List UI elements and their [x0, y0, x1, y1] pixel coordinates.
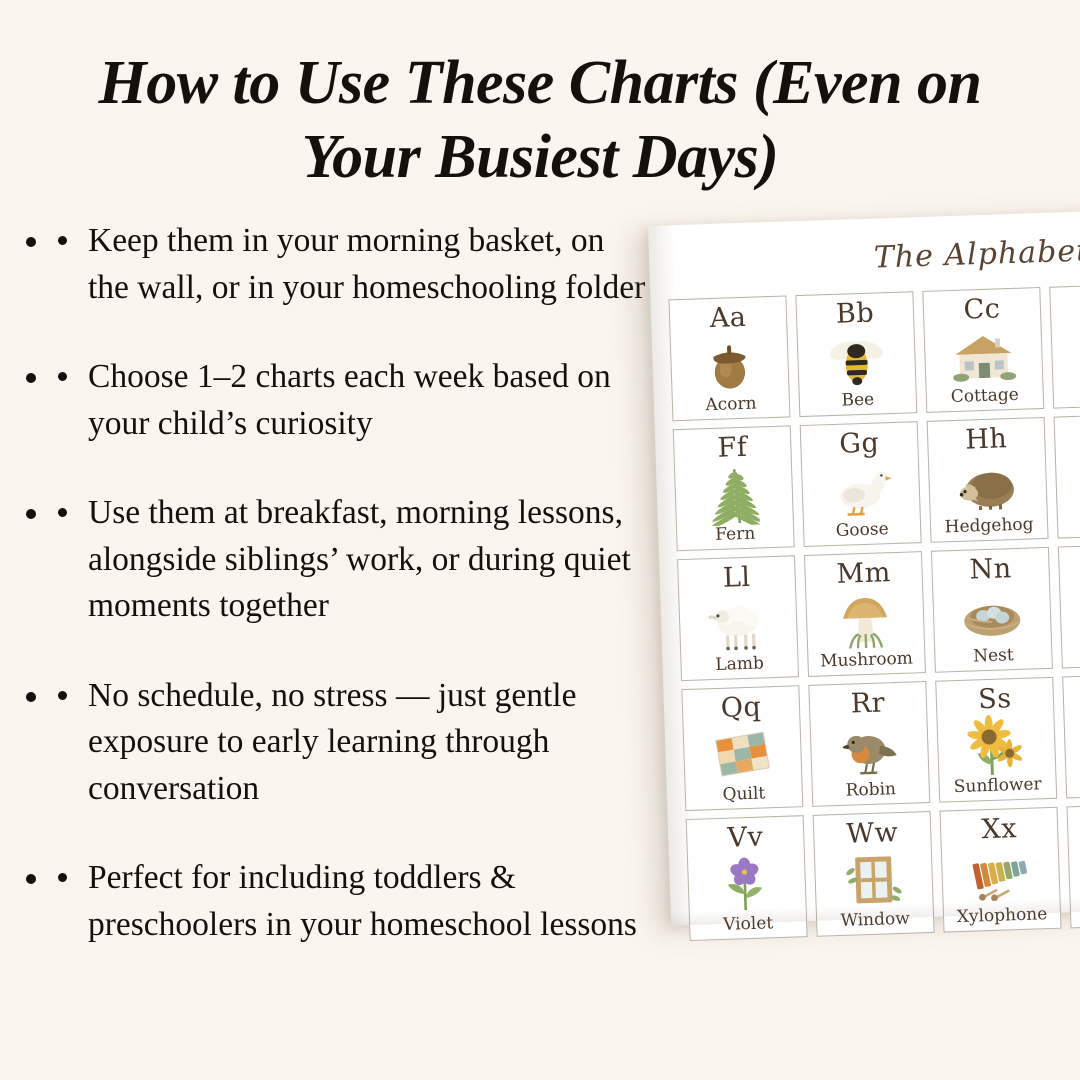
- card-letters: Xx: [981, 814, 1017, 845]
- card-word: Violet: [723, 914, 774, 935]
- card-letters: Bb: [835, 299, 874, 330]
- alphabet-card: AaAcorn: [668, 295, 790, 421]
- card-letters: Mm: [836, 558, 891, 590]
- acorn-icon: [674, 332, 786, 398]
- bullet-dot-icon: [58, 236, 67, 245]
- card-letters: Ll: [722, 563, 751, 594]
- bullet-dot-icon: [58, 691, 67, 700]
- teacup-icon: [1067, 709, 1080, 775]
- bullet-dot-icon: [58, 508, 67, 517]
- poster-canvas: How to Use These Charts (Even on Your Bu…: [0, 0, 1080, 1080]
- alphabet-card: LlLamb: [677, 555, 799, 681]
- chart-title: The Alphabet: [649, 233, 1080, 283]
- card-word: Nest: [973, 646, 1014, 666]
- fern-icon: [678, 461, 790, 527]
- goose-icon: [805, 457, 917, 523]
- card-letters: Hh: [965, 424, 1008, 455]
- tip-text: Choose 1–2 charts each week based on you…: [88, 354, 652, 447]
- page-title-line-1: How to Use These Charts (Even on: [34, 46, 1046, 120]
- cottage-icon: [927, 323, 1039, 389]
- card-letters: Gg: [839, 428, 880, 459]
- bee-icon: [801, 327, 913, 393]
- alphabet-card: CcCottage: [922, 287, 1044, 413]
- card-word: Robin: [845, 780, 896, 801]
- card-word: Xylophone: [957, 905, 1048, 927]
- tip-item: Perfect for including toddlers & prescho…: [52, 855, 652, 948]
- tips-list: Keep them in your morning basket, on the…: [52, 218, 652, 948]
- alphabet-card: GgGoose: [800, 421, 922, 547]
- card-letters: Rr: [850, 688, 885, 719]
- alphabet-card: MmMushroom: [804, 551, 926, 677]
- card-word: Lamb: [715, 654, 764, 675]
- alphabet-grid: AaAcornBbBeeCcCottageDdDaisyEeFfFernGgGo…: [668, 278, 1080, 941]
- nest-icon: [936, 583, 1048, 649]
- oak-tree-icon: [1063, 579, 1080, 645]
- robin-icon: [813, 717, 925, 783]
- hedgehog-icon: [932, 453, 1044, 519]
- card-letters: Cc: [963, 294, 1001, 325]
- card-letters: Ff: [717, 433, 748, 464]
- alphabet-card: VvViolet: [686, 815, 808, 941]
- violet-icon: [691, 851, 803, 917]
- card-letters: Nn: [969, 554, 1012, 585]
- card-word: Bee: [841, 391, 874, 411]
- card-word: Fern: [715, 525, 756, 545]
- card-word: Acorn: [705, 395, 757, 416]
- page-title-line-2: Your Busiest Days): [34, 120, 1046, 194]
- xylophone-icon: [945, 843, 1057, 909]
- tip-text: Perfect for including toddlers & prescho…: [88, 855, 652, 948]
- daisy-icon: [1054, 319, 1080, 385]
- alphabet-card: FfFern: [673, 425, 795, 551]
- card-letters: Vv: [727, 823, 764, 854]
- card-word: Quilt: [722, 784, 765, 804]
- card-word: Hedgehog: [944, 515, 1033, 537]
- card-word: Sunflower: [954, 775, 1042, 797]
- card-letters: Aa: [709, 303, 747, 334]
- tip-item: No schedule, no stress — just gentle exp…: [52, 673, 652, 813]
- alphabet-card: WwWindow: [813, 811, 935, 937]
- sunflower-icon: [940, 713, 1052, 779]
- tip-text: Use them at breakfast, morning lessons, …: [88, 490, 652, 630]
- alphabet-card: DdDaisy: [1049, 283, 1080, 409]
- tip-item: Use them at breakfast, morning lessons, …: [52, 490, 652, 630]
- bullet-dot-icon: [58, 873, 67, 882]
- card-word: Cottage: [951, 386, 1020, 407]
- card-letters: Ss: [978, 684, 1012, 715]
- alphabet-card: RrRobin: [808, 681, 930, 807]
- alphabet-card: XxXylophone: [940, 807, 1062, 933]
- alphabet-card: IiIvy: [1054, 413, 1080, 539]
- chart-paper: The Alphabet AaAcornBbBeeCcCottageDdDais…: [648, 209, 1080, 926]
- alphabet-card: HhHedgehog: [927, 417, 1049, 543]
- card-word: Window: [840, 910, 910, 931]
- card-letters: Qq: [720, 693, 761, 724]
- alphabet-card: SsSunflower: [935, 677, 1057, 803]
- alphabet-chart: The Alphabet AaAcornBbBeeCcCottageDdDais…: [648, 209, 1080, 926]
- card-word: Goose: [835, 520, 888, 541]
- quilt-icon: [687, 721, 799, 787]
- card-letters: Ww: [846, 818, 899, 850]
- tip-text: Keep them in your morning basket, on the…: [88, 218, 652, 311]
- alphabet-card: TtTeacup: [1062, 673, 1080, 799]
- card-word: Mushroom: [820, 649, 913, 671]
- alphabet-card: YyYarn: [1066, 803, 1080, 929]
- alphabet-card: NnNest: [931, 547, 1053, 673]
- lamb-icon: [682, 591, 794, 657]
- page-title: How to Use These Charts (Even on Your Bu…: [0, 46, 1080, 194]
- tip-item: Keep them in your morning basket, on the…: [52, 218, 652, 311]
- ivy-icon: [1059, 449, 1080, 515]
- yarn-ball-icon: [1072, 839, 1080, 905]
- alphabet-card: QqQuilt: [681, 685, 803, 811]
- alphabet-card: BbBee: [795, 291, 917, 417]
- mushroom-icon: [809, 587, 921, 653]
- tip-item: Choose 1–2 charts each week based on you…: [52, 354, 652, 447]
- bullet-dot-icon: [58, 372, 67, 381]
- window-icon: [818, 847, 930, 913]
- alphabet-card: OoOak: [1058, 543, 1080, 669]
- tip-text: No schedule, no stress — just gentle exp…: [88, 673, 652, 813]
